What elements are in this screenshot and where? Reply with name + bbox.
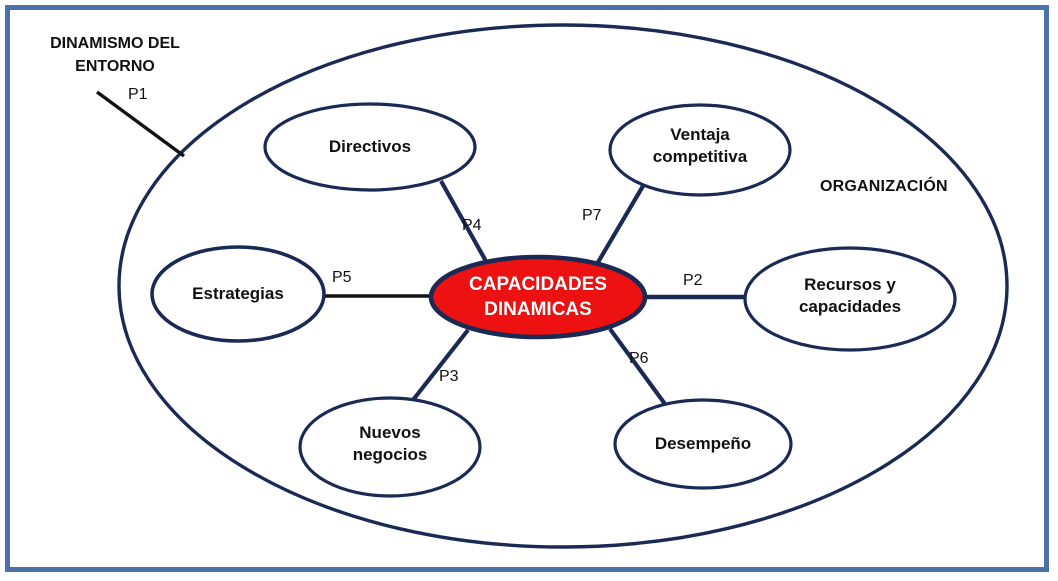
node-ellipse-nuevos-negocios[interactable] [300,398,480,496]
edge-label-p7: P7 [582,207,602,225]
edge-label-p1: P1 [128,86,148,104]
organization-boundary-label: ORGANIZACIÓN [820,178,948,196]
external-title-line1: DINAMISMO DEL [20,32,210,55]
node-ellipse-recursos-y-capacidades[interactable] [745,248,955,350]
diagram-canvas: DINAMISMO DEL ENTORNO ORGANIZACIÓN CAPAC… [0,0,1058,581]
node-ellipse-capacidades-dinamicas[interactable] [431,257,645,337]
external-title: DINAMISMO DEL ENTORNO [20,32,210,78]
edge-label-p4: P4 [462,217,482,235]
node-ellipse-ventaja-competitiva[interactable] [610,105,790,195]
node-ellipse-estrategias[interactable] [152,247,324,341]
edge-label-p5: P5 [332,269,352,287]
connector-p7 [597,186,643,264]
edge-label-p3: P3 [439,368,459,386]
node-ellipse-desempeno[interactable] [615,400,791,488]
external-title-line2: ENTORNO [20,55,210,78]
connector-p3 [413,330,468,400]
diagram-svg [0,0,1058,581]
edge-label-p2: P2 [683,272,703,290]
node-ellipse-directivos[interactable] [265,104,475,190]
edge-label-p6: P6 [629,350,649,368]
